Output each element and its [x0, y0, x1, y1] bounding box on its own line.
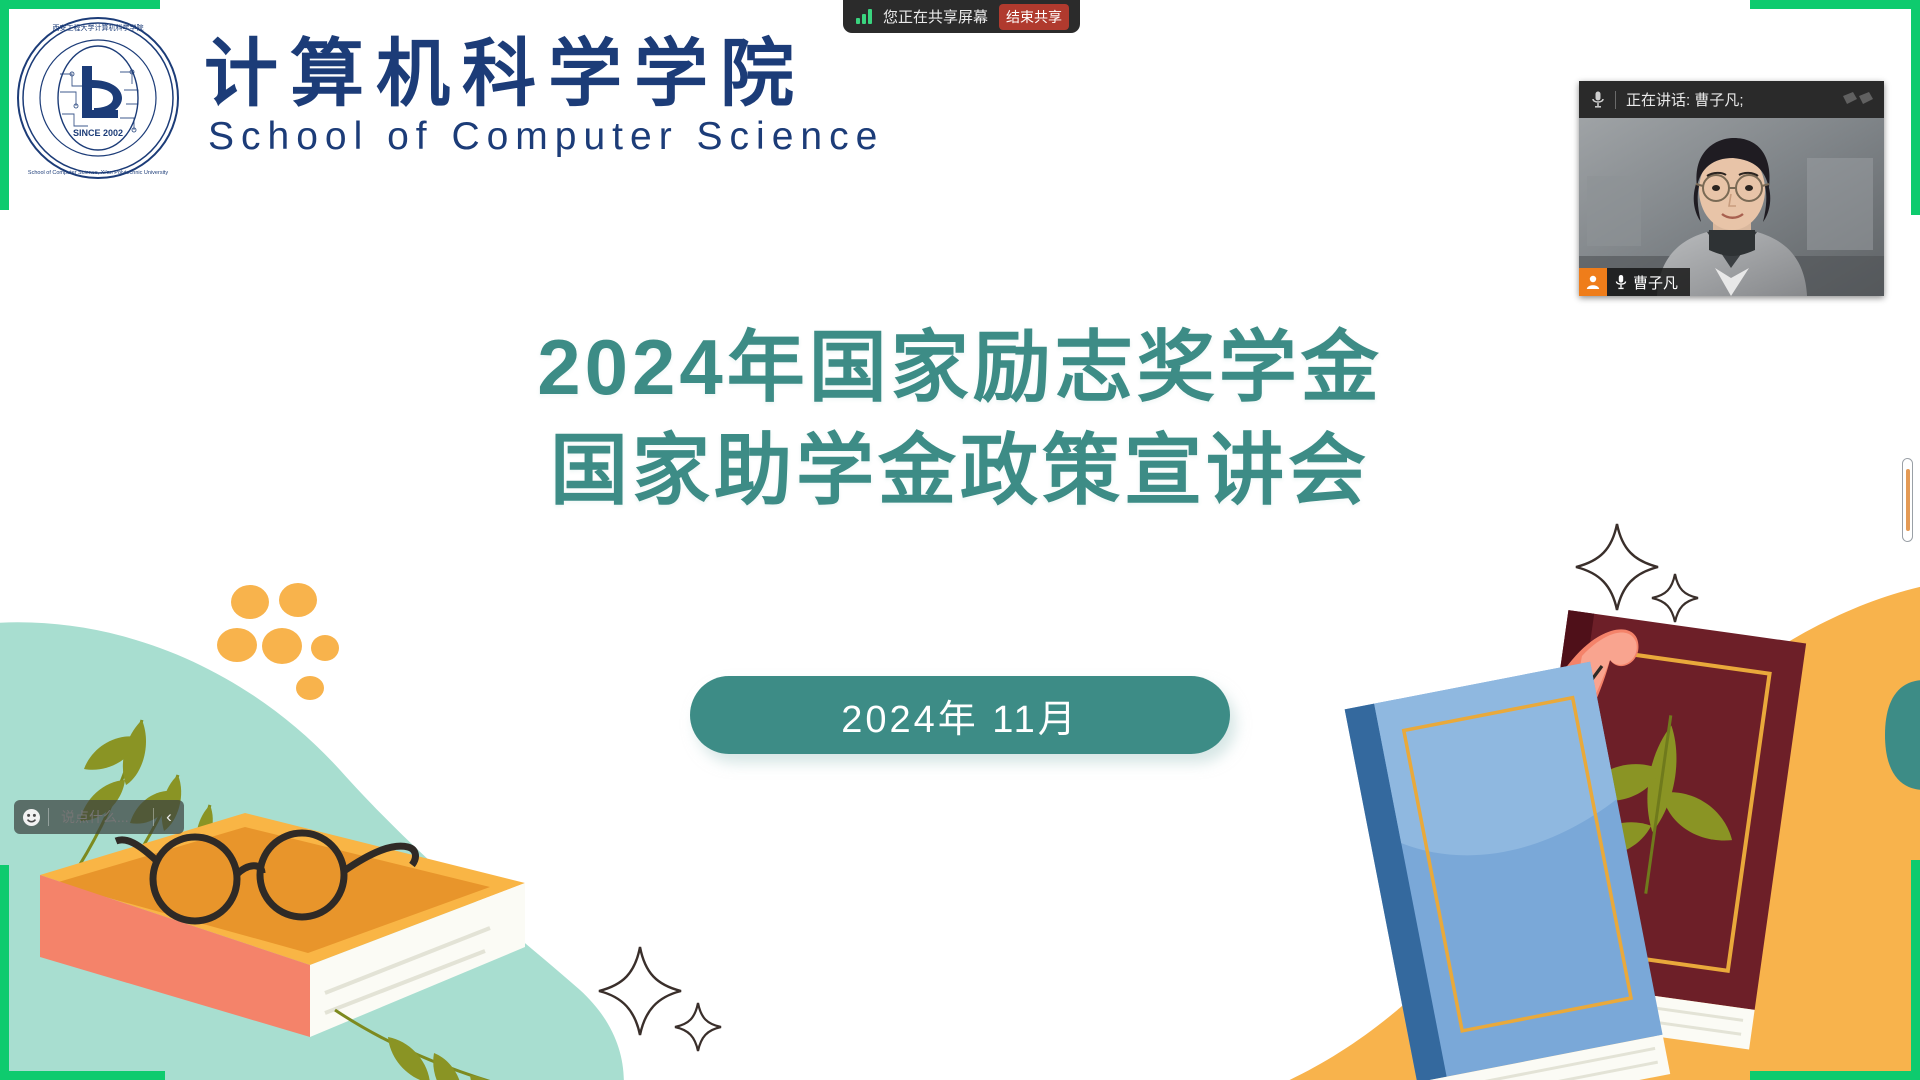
books-and-quill-illustration [1230, 560, 1920, 1080]
share-frame-corner [1911, 0, 1920, 215]
chat-input[interactable] [49, 809, 153, 825]
slide-title: 2024年国家励志奖学金 国家助学金政策宣讲会 [0, 316, 1920, 522]
divider [1615, 91, 1616, 109]
share-frame-corner [1911, 860, 1920, 1080]
olive-leaves-lower-decoration [330, 1005, 530, 1080]
stop-share-button[interactable]: 结束共享 [999, 4, 1069, 30]
video-thumbnail-panel[interactable]: 正在讲话: 曹子凡; [1579, 81, 1884, 296]
microphone-icon [1615, 274, 1627, 291]
share-status-text: 您正在共享屏幕 [883, 6, 988, 27]
participant-video[interactable]: 曹子凡 [1579, 118, 1884, 296]
share-frame-corner [0, 0, 160, 9]
layout-view-icon[interactable] [1841, 90, 1875, 108]
share-frame-corner [1750, 1071, 1920, 1080]
signal-bars-icon [856, 9, 872, 24]
participant-name-bar: 曹子凡 [1579, 268, 1690, 296]
vertical-scrollbar[interactable] [1902, 458, 1913, 542]
logo-name-en: School of Computer Science [204, 116, 884, 159]
microphone-icon [1591, 90, 1605, 110]
title-line-1: 2024年国家励志奖学金 [0, 316, 1920, 419]
slide-canvas: SINCE 2002 西安工程大学计算机科学学院 School of Compu… [0, 0, 1920, 1080]
school-logo: SINCE 2002 西安工程大学计算机科学学院 School of Compu… [14, 14, 884, 182]
share-frame-corner [0, 1071, 165, 1080]
share-frame-corner [0, 865, 9, 1080]
speaking-label: 正在讲话: 曹子凡; [1626, 89, 1744, 110]
logo-name-cn: 计算机科学学院 [204, 37, 884, 115]
title-line-2: 国家助学金政策宣讲会 [0, 419, 1920, 522]
share-frame-corner [1750, 0, 1920, 9]
seal-year-text: SINCE 2002 [73, 128, 123, 138]
smiley-face-icon[interactable] [14, 800, 48, 834]
chat-input-bar[interactable]: ‹ [14, 800, 184, 834]
screen-share-bar: 您正在共享屏幕 结束共享 [843, 0, 1080, 33]
svg-text:西安工程大学计算机科学学院: 西安工程大学计算机科学学院 [53, 23, 144, 32]
school-seal-icon: SINCE 2002 西安工程大学计算机科学学院 School of Compu… [14, 14, 182, 182]
svg-text:School of Computer Science, Xi: School of Computer Science, Xi'an Polyte… [28, 170, 168, 176]
date-badge: 2024年 11月 [690, 676, 1230, 754]
sparkle-decoration-left [585, 935, 735, 1065]
person-icon [1579, 268, 1607, 296]
share-frame-corner [0, 0, 9, 210]
scrollbar-thumb[interactable] [1906, 469, 1910, 531]
video-thumbnail-header: 正在讲话: 曹子凡; [1579, 81, 1884, 118]
participant-name: 曹子凡 [1627, 272, 1690, 293]
chevron-left-icon[interactable]: ‹ [154, 800, 184, 834]
